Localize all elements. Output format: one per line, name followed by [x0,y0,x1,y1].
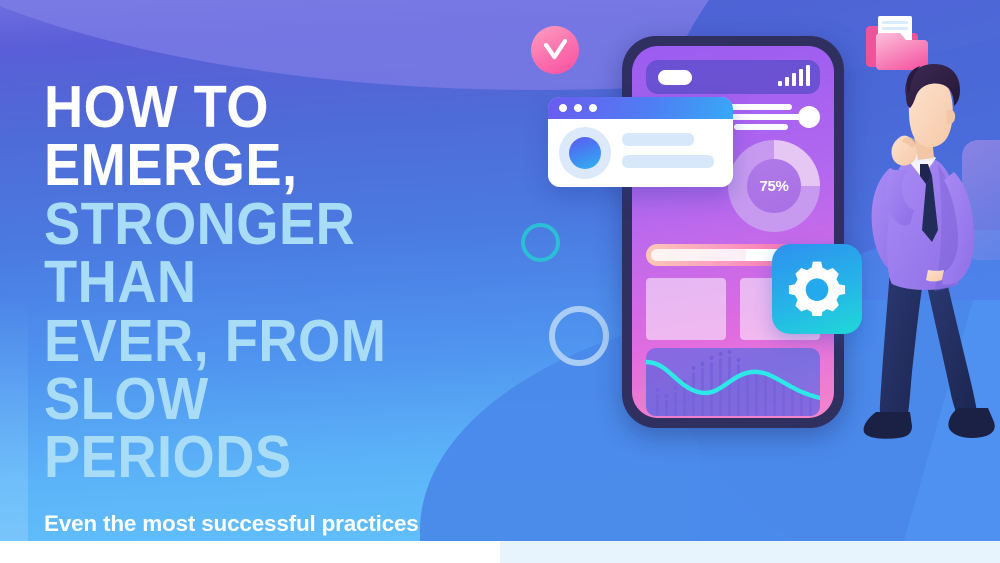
businessman-illustration [846,52,1000,462]
status-bar [646,60,820,94]
poster-canvas: HOW TO EMERGE, STRONGER THAN EVER, FROM … [0,0,1000,563]
donut-chart-label: 75% [747,159,801,213]
subtitle-line-1: Even the most successful practices [44,509,544,539]
browser-titlebar [548,97,733,119]
header-placeholder-rows [728,104,820,132]
decorative-ring-light [549,306,609,366]
left-band-shape [0,300,28,541]
browser-body [548,119,733,187]
phone-mockup: 75% [622,36,844,428]
battery-pill-icon [658,70,692,85]
window-dot-icon [589,104,597,112]
headline-line-2: STRONGER THAN [44,195,504,312]
window-dot-icon [559,104,567,112]
bottom-strip-right [500,541,1000,563]
signal-bars-icon [778,65,810,86]
gear-icon [788,258,846,321]
donut-chart: 75% [728,140,820,232]
check-badge [531,26,579,74]
headline-line-4: PERIODS [44,428,504,486]
page-title: HOW TO EMERGE, STRONGER THAN EVER, FROM … [44,78,504,487]
avatar [559,127,611,179]
headline-line-1: HOW TO EMERGE, [44,78,504,195]
avatar-inner [569,137,601,169]
hero-text-block: HOW TO EMERGE, STRONGER THAN EVER, FROM … [44,78,544,563]
check-icon [540,35,570,65]
avatar [798,106,820,128]
headline-line-3: EVER, FROM SLOW [44,312,504,429]
content-tile-left [646,278,726,340]
wave-chart [646,348,820,416]
browser-card [548,97,733,187]
window-dot-icon [574,104,582,112]
text-placeholder-line [622,133,694,146]
text-placeholder-line [622,155,714,168]
